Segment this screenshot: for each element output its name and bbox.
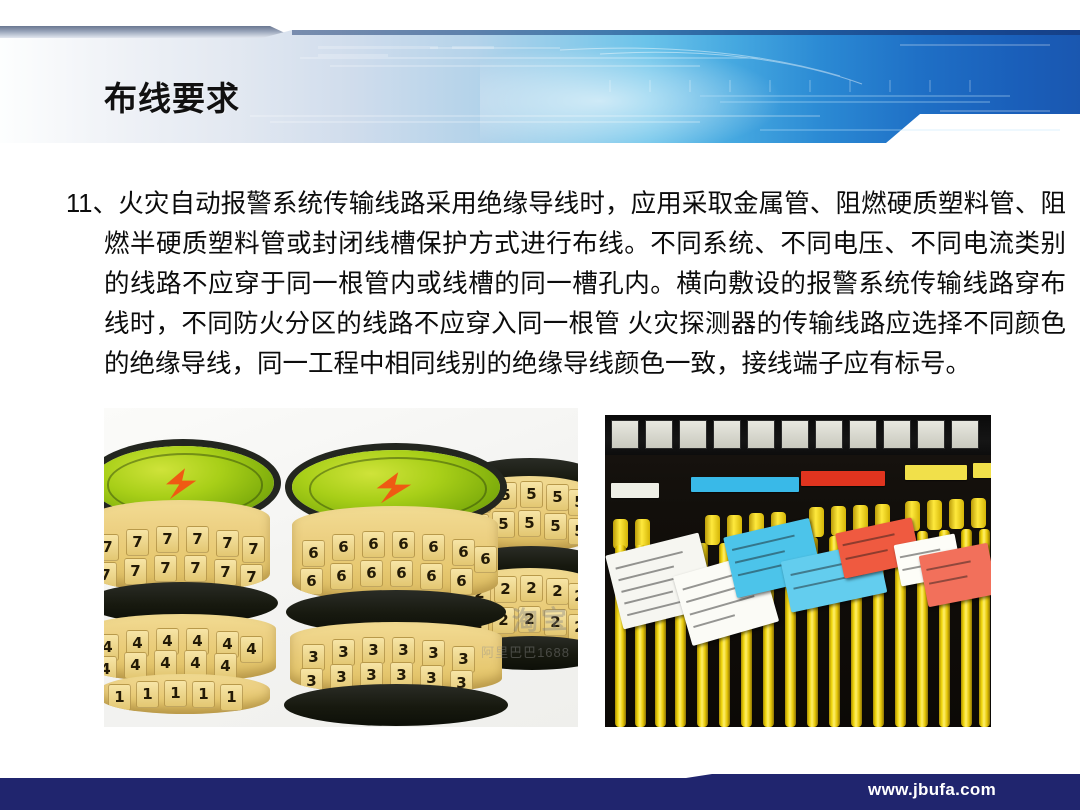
- cable-boot: [927, 500, 942, 530]
- lightning-bolt-icon: [158, 468, 205, 499]
- body-content: 11、火灾自动报警系统传输线路采用绝缘导线时，应用采取金属管、阻燃硬质塑料管、阻…: [66, 158, 1066, 409]
- marker-strip: 11 11 1: [104, 674, 270, 714]
- port-label-yellow: [973, 463, 991, 478]
- photo-patch-panel-cables: [605, 415, 991, 727]
- marker-coil: 44 44 44 44 44 4: [104, 614, 276, 682]
- port-label-white: [611, 483, 659, 498]
- cable-boot: [705, 515, 720, 545]
- cable-boot: [949, 499, 964, 529]
- cable-boot: [971, 498, 986, 528]
- port-label-yellow: [905, 465, 967, 480]
- requirement-paragraph-11: 11、火灾自动报警系统传输线路采用绝缘导线时，应用采取金属管、阻燃硬质塑料管、阻…: [66, 184, 1066, 384]
- port-label-red: [801, 471, 885, 486]
- photo-watermark: 淘宝: [511, 599, 570, 638]
- marker-coil: 66 66 66 6 66 66 66: [292, 506, 498, 602]
- photo-cable-marker-rings: 55 55 5 55 55 5 22 22 2 22 22 2 66 66 66…: [104, 408, 578, 727]
- footer-url[interactable]: www.jbufa.com: [0, 772, 1080, 808]
- port-label-blue: [691, 477, 799, 492]
- photo-watermark-sub: 阿里巴巴1688: [481, 642, 570, 661]
- patch-panel-header: [605, 415, 991, 455]
- marker-disc: [284, 684, 508, 726]
- lightning-bolt-icon: [367, 472, 421, 503]
- header-top-hairline: [292, 30, 1080, 35]
- header-banner: 布线要求: [0, 0, 1080, 150]
- header-top-accent-strip: [0, 26, 300, 40]
- page-title: 布线要求: [104, 72, 240, 120]
- marker-coil: 77 77 77 77 77 77: [104, 500, 270, 592]
